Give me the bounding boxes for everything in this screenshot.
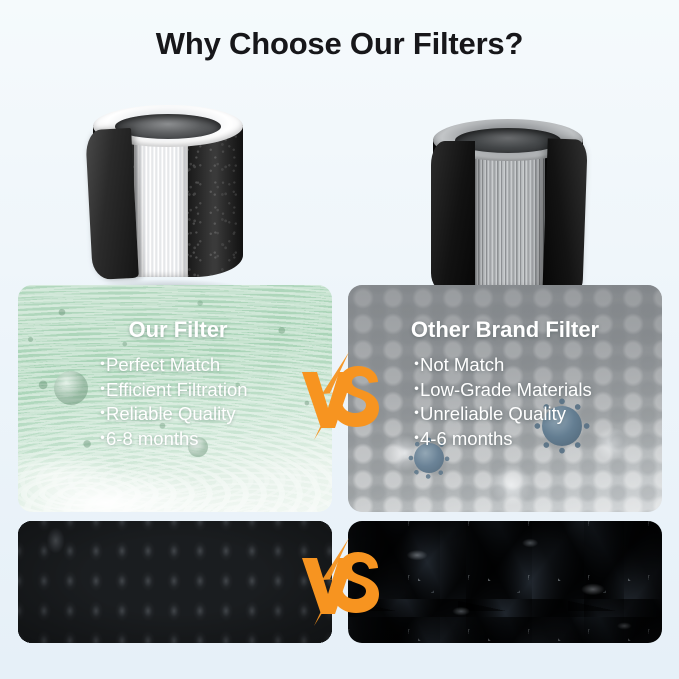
list-item-label: Unreliable Quality <box>420 403 566 424</box>
panel-heading: Other Brand Filter <box>348 317 662 343</box>
other-brand-filter-product <box>358 95 658 305</box>
bullet-marker: ・ <box>408 353 420 378</box>
bullet-marker: ・ <box>408 402 420 427</box>
carbon-wrap-flap <box>85 128 139 280</box>
infographic-root: Why Choose Our Filters? <box>0 0 679 679</box>
benefits-list: ・Perfect Match ・Efficient Filtration ・Re… <box>18 353 332 451</box>
carbon-wrap-right <box>542 138 587 297</box>
list-item-label: 4-6 months <box>420 428 513 449</box>
raw-charcoal-chunks-panel <box>348 521 662 643</box>
bullet-marker: ・ <box>408 427 420 452</box>
list-item-label: Reliable Quality <box>106 403 236 424</box>
vs-icon: VS <box>292 348 388 444</box>
vs-badge-top: VS <box>292 348 388 444</box>
list-item: ・4-6 months <box>408 427 662 452</box>
activated-carbon-pellets-panel <box>18 521 332 643</box>
pleated-media <box>473 139 545 291</box>
list-item-label: Low-Grade Materials <box>420 379 592 400</box>
list-item: ・Unreliable Quality <box>408 402 662 427</box>
drawbacks-list: ・Not Match ・Low-Grade Materials ・Unrelia… <box>348 353 662 451</box>
list-item-label: 6-8 months <box>106 428 199 449</box>
our-filter-product <box>18 95 318 305</box>
bullet-marker: ・ <box>94 402 106 427</box>
vs-badge-bottom: VS <box>292 534 388 630</box>
carbon-wrap-left <box>431 141 475 293</box>
bullet-marker: ・ <box>94 378 106 403</box>
vs-icon: VS <box>292 534 388 630</box>
bullet-marker: ・ <box>408 378 420 403</box>
panel-heading: Our Filter <box>18 317 332 343</box>
list-item-label: Not Match <box>420 354 504 375</box>
panel-vignette <box>18 521 332 643</box>
pleated-media <box>134 125 188 277</box>
bullet-marker: ・ <box>94 353 106 378</box>
list-item-label: Perfect Match <box>106 354 220 375</box>
list-item: ・Low-Grade Materials <box>408 378 662 403</box>
other-brand-filter-panel: Other Brand Filter ・Not Match ・Low-Grade… <box>348 285 662 512</box>
bullet-marker: ・ <box>94 427 106 452</box>
page-title: Why Choose Our Filters? <box>0 26 679 62</box>
our-filter-panel: Our Filter ・Perfect Match ・Efficient Fil… <box>18 285 332 512</box>
panel-vignette <box>348 521 662 643</box>
list-item: ・Not Match <box>408 353 662 378</box>
list-item-label: Efficient Filtration <box>106 379 248 400</box>
